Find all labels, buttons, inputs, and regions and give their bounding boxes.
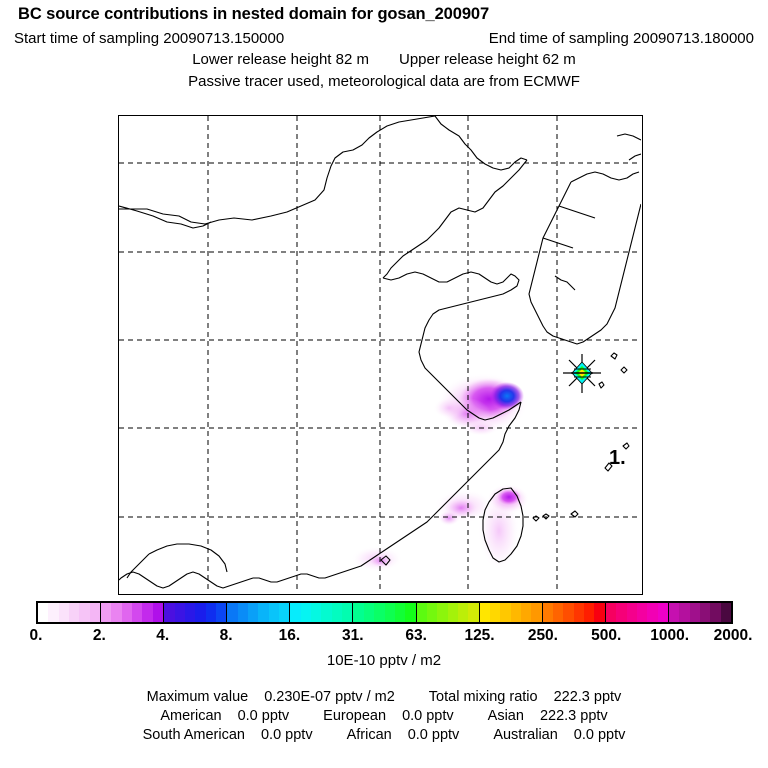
- island-ryukyu-5: [571, 511, 578, 517]
- colorbar-step-5-2: [374, 603, 384, 622]
- colorbar-step-3-0: [227, 603, 237, 622]
- colorbar-step-2-2: [185, 603, 195, 622]
- colorbar-segment-9[interactable]: [606, 603, 669, 622]
- colorbar[interactable]: [36, 601, 733, 624]
- coast-korea-inlet-2: [555, 276, 575, 290]
- border-northwest: [119, 206, 211, 228]
- colorbar-step-10-2: [690, 603, 700, 622]
- map-canvas: 1.: [119, 116, 641, 593]
- colorbar-step-5-1: [364, 603, 374, 622]
- coast-japan-north: [617, 134, 641, 140]
- colorbar-tick-labels: 0.2.4.8.16.31.63.125.250.500.1000.2000.: [0, 627, 768, 647]
- colorbar-step-8-3: [574, 603, 584, 622]
- lower-release-height-label: Lower release height 82 m: [192, 51, 369, 68]
- colorbar-step-1-1: [111, 603, 121, 622]
- region-value-south-american: 0.0 pptv: [261, 727, 313, 743]
- plume-guangdong-core: [368, 554, 394, 568]
- colorbar-step-0-0: [38, 603, 48, 622]
- colorbar-step-0-4: [79, 603, 89, 622]
- colorbar-step-7-1: [490, 603, 500, 622]
- colorbar-step-7-4: [521, 603, 531, 622]
- upper-release-height-label: Upper release height 62 m: [399, 51, 576, 68]
- colorbar-segment-10[interactable]: [669, 603, 731, 622]
- colorbar-step-6-5: [468, 603, 478, 622]
- colorbar-step-6-4: [458, 603, 468, 622]
- colorbar-segment-1[interactable]: [101, 603, 164, 622]
- footer-row-regions-2: South American 0.0 pptv African 0.0 pptv…: [0, 727, 768, 743]
- colorbar-step-3-4: [269, 603, 279, 622]
- coast-south-china: [119, 572, 253, 588]
- region-value-european: 0.0 pptv: [402, 708, 454, 724]
- colorbar-step-4-0: [290, 603, 300, 622]
- colorbar-step-4-1: [301, 603, 311, 622]
- colorbar-step-7-0: [480, 603, 490, 622]
- gosan-receptor-marker[interactable]: [563, 354, 601, 393]
- colorbar-segment-5[interactable]: [353, 603, 416, 622]
- region-value-american: 0.0 pptv: [238, 708, 290, 724]
- colorbar-step-8-0: [543, 603, 553, 622]
- colorbar-step-10-1: [679, 603, 689, 622]
- colorbar-segment-8[interactable]: [543, 603, 606, 622]
- colorbar-step-6-3: [448, 603, 458, 622]
- colorbar-step-8-4: [584, 603, 594, 622]
- region-value-australian: 0.0 pptv: [574, 727, 626, 743]
- graticule: [119, 116, 641, 593]
- colorbar-step-10-4: [710, 603, 720, 622]
- colorbar-step-5-3: [385, 603, 395, 622]
- map-plot-area[interactable]: 1.: [118, 115, 643, 595]
- colorbar-segment-0[interactable]: [38, 603, 101, 622]
- region-label-australian: Australian: [493, 727, 557, 743]
- region-label-south-american: South American: [143, 727, 245, 743]
- colorbar-step-2-1: [175, 603, 185, 622]
- map-contour-annotation: 1.: [609, 447, 626, 469]
- sampling-time-line: Start time of sampling 20090713.150000 E…: [0, 30, 768, 47]
- colorbar-step-1-5: [153, 603, 163, 622]
- region-label-african: African: [347, 727, 392, 743]
- colorbar-segment-4[interactable]: [290, 603, 353, 622]
- region-value-african: 0.0 pptv: [408, 727, 460, 743]
- coast-korea-bay: [559, 206, 595, 218]
- border-north: [119, 116, 435, 224]
- colorbar-step-4-3: [321, 603, 331, 622]
- colorbar-step-7-3: [511, 603, 521, 622]
- colorbar-tick-6: 63.: [405, 627, 427, 645]
- border-southwest-tail: [127, 554, 149, 578]
- colorbar-step-7-2: [500, 603, 510, 622]
- colorbar-step-9-5: [658, 603, 668, 622]
- colorbar-step-6-1: [427, 603, 437, 622]
- colorbar-segment-2[interactable]: [164, 603, 227, 622]
- colorbar-step-6-2: [437, 603, 447, 622]
- page-title: BC source contributions in nested domain…: [18, 5, 768, 24]
- total-mixing-ratio-label: Total mixing ratio: [429, 689, 538, 705]
- plume-yangtze-west-tail: [433, 397, 465, 419]
- colorbar-tick-1: 2.: [93, 627, 106, 645]
- colorbar-step-4-5: [342, 603, 352, 622]
- colorbar-step-0-3: [69, 603, 79, 622]
- colorbar-step-7-5: [531, 603, 541, 622]
- total-mixing-ratio-value: 222.3 pptv: [554, 689, 622, 705]
- border-southwest: [149, 544, 227, 572]
- colorbar-step-1-4: [142, 603, 152, 622]
- colorbar-tick-10: 1000.: [650, 627, 689, 645]
- footer-statistics: Maximum value 0.230E-07 pptv / m2 Total …: [0, 686, 768, 743]
- header-block: BC source contributions in nested domain…: [0, 0, 768, 90]
- plume-fujian-south: [438, 510, 460, 526]
- colorbar-step-9-1: [616, 603, 626, 622]
- start-time-label: Start time of sampling 20090713.150000: [14, 30, 284, 47]
- colorbar-step-6-0: [417, 603, 427, 622]
- region-label-asian: Asian: [488, 708, 524, 724]
- island-small-1: [611, 353, 617, 359]
- colorbar-step-2-4: [206, 603, 216, 622]
- colorbar-step-8-2: [563, 603, 573, 622]
- colorbar-step-2-5: [216, 603, 226, 622]
- colorbar-step-0-2: [59, 603, 69, 622]
- colorbar-step-3-5: [279, 603, 289, 622]
- colorbar-unit-label: 10E-10 pptv / m2: [0, 652, 768, 669]
- footer-row-maximum: Maximum value 0.230E-07 pptv / m2 Total …: [0, 689, 768, 705]
- colorbar-step-3-3: [258, 603, 268, 622]
- colorbar-step-4-4: [332, 603, 342, 622]
- colorbar-step-1-2: [122, 603, 132, 622]
- colorbar-step-1-3: [132, 603, 142, 622]
- island-small-3: [621, 367, 627, 373]
- maximum-value: 0.230E-07 pptv / m2: [264, 689, 395, 705]
- colorbar-step-10-5: [721, 603, 731, 622]
- colorbar-step-9-4: [647, 603, 657, 622]
- release-height-line: Lower release height 82 m Upper release …: [0, 51, 768, 68]
- region-label-american: American: [160, 708, 221, 724]
- colorbar-step-5-0: [353, 603, 363, 622]
- colorbar-step-9-2: [627, 603, 637, 622]
- colorbar-step-5-5: [405, 603, 415, 622]
- region-value-asian: 222.3 pptv: [540, 708, 608, 724]
- colorbar-tick-9: 500.: [591, 627, 621, 645]
- colorbar-tick-7: 125.: [464, 627, 494, 645]
- coast-japan-kyushu: [629, 154, 641, 160]
- end-time-label: End time of sampling 20090713.180000: [489, 30, 754, 47]
- coast-korea-peninsula: [529, 182, 641, 344]
- colorbar-step-3-1: [238, 603, 248, 622]
- colorbar-step-5-4: [395, 603, 405, 622]
- colorbar-step-0-5: [90, 603, 100, 622]
- colorbar-step-9-0: [606, 603, 616, 622]
- tracer-info-label: Passive tracer used, meteorological data…: [0, 73, 768, 90]
- footer-row-regions-1: American 0.0 pptv European 0.0 pptv Asia…: [0, 708, 768, 724]
- colorbar-step-9-3: [637, 603, 647, 622]
- concentration-field: [351, 373, 529, 572]
- colorbar-step-8-5: [594, 603, 604, 622]
- colorbar-step-4-2: [311, 603, 321, 622]
- colorbar-tick-0: 0.: [30, 627, 43, 645]
- colorbar-tick-4: 16.: [279, 627, 301, 645]
- coast-liaodong-north: [435, 116, 527, 170]
- colorbar-tick-5: 31.: [342, 627, 364, 645]
- colorbar-step-1-0: [101, 603, 111, 622]
- colorbar-tick-2: 4.: [156, 627, 169, 645]
- colorbar-step-8-1: [553, 603, 563, 622]
- colorbar-step-10-3: [700, 603, 710, 622]
- coast-north-korea-border: [571, 172, 639, 182]
- coast-bohai-west: [383, 160, 527, 278]
- colorbar-tick-3: 8.: [220, 627, 233, 645]
- colorbar-segment-7[interactable]: [480, 603, 543, 622]
- colorbar-step-0-1: [48, 603, 58, 622]
- colorbar-tick-8: 250.: [528, 627, 558, 645]
- colorbar-tick-11: 2000.: [714, 627, 753, 645]
- coast-korea-west-inlet: [543, 238, 573, 248]
- plume-yangtze-core: [490, 382, 524, 410]
- colorbar-step-3-2: [248, 603, 258, 622]
- colorbar-step-10-0: [669, 603, 679, 622]
- colorbar-segment-6[interactable]: [417, 603, 480, 622]
- colorbar-step-2-0: [164, 603, 174, 622]
- region-label-european: European: [323, 708, 386, 724]
- maximum-value-label: Maximum value: [147, 689, 249, 705]
- colorbar-segment-3[interactable]: [227, 603, 290, 622]
- colorbar-step-2-3: [195, 603, 205, 622]
- island-small-2: [599, 382, 604, 388]
